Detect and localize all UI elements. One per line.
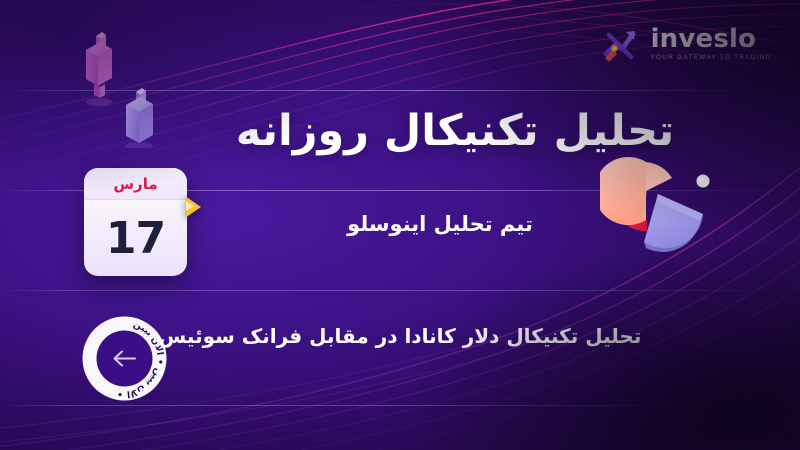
divider-line-lower-mid [0, 290, 800, 291]
calendar-month-label: مارس [113, 175, 157, 193]
logo-tagline: YOUR GATEWAY TO TRADING [651, 55, 772, 61]
pie-chart-3d-icon [600, 152, 722, 264]
analysis-description: تحلیل تکنیکال دلار کانادا در مقابل فرانک… [150, 322, 650, 351]
divider-line-bottom [0, 405, 800, 406]
calendar-header: مارس [84, 168, 187, 200]
play-triangle-inner-icon [186, 201, 194, 211]
logo-wordmark: inveslo [651, 26, 757, 52]
page-title: تحلیل تکنیکال روزانه [0, 106, 800, 156]
slide-canvas: مارس 17 الان ببین • الان ببین • [0, 0, 800, 450]
brand-logo[interactable]: inveslo YOUR GATEWAY TO TRADING [600, 24, 772, 64]
chart-arrow-rocket-icon [600, 24, 642, 64]
page-subtitle: تیم تحلیل اینوسلو [0, 212, 800, 236]
